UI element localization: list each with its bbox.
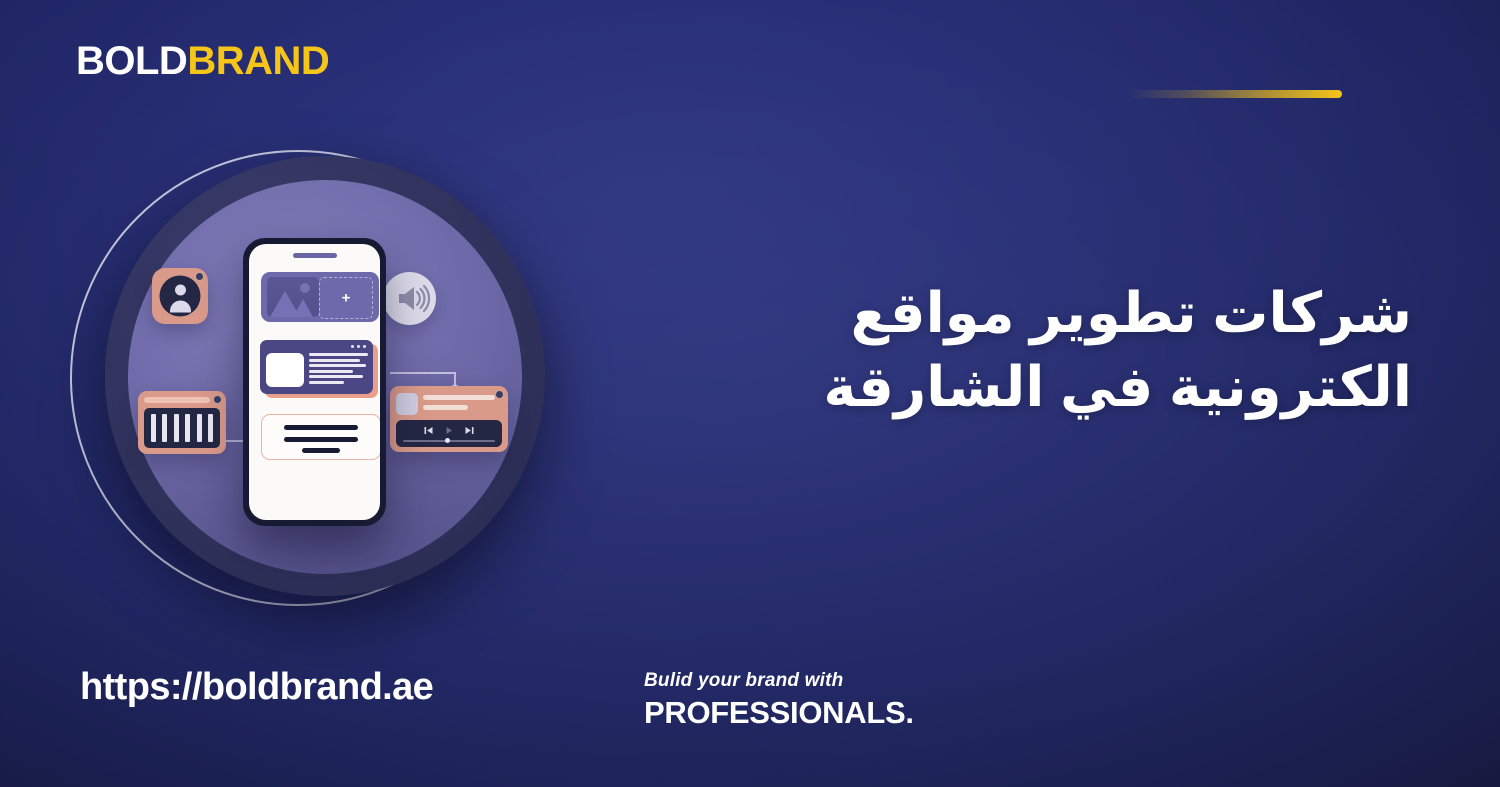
avatar	[160, 276, 201, 317]
mountain-icon-small	[293, 299, 313, 317]
play-icon[interactable]	[445, 426, 454, 435]
browser-card-text-lines	[309, 353, 368, 384]
phone-screen: +	[249, 244, 380, 520]
media-text-lines	[423, 395, 495, 410]
previous-icon[interactable]	[425, 426, 434, 435]
image-picker-block[interactable]: +	[261, 272, 379, 322]
logo-bold-text: BOLD	[76, 39, 187, 83]
close-icon[interactable]	[495, 390, 504, 399]
barcode-card[interactable]	[138, 391, 226, 454]
phone-speaker-notch	[293, 253, 337, 258]
brand-logo[interactable]: BOLDBRAND	[76, 41, 329, 81]
plus-icon: +	[342, 291, 351, 306]
web-development-illustration: +	[60, 128, 560, 628]
sun-icon	[300, 283, 310, 293]
person-icon-body	[170, 301, 191, 313]
barcode-card-titlebar	[144, 397, 210, 403]
avatar-card[interactable]	[152, 268, 208, 324]
next-icon[interactable]	[465, 426, 474, 435]
website-url[interactable]: https://boldbrand.ae	[80, 666, 433, 709]
text-line	[284, 425, 358, 430]
text-block-card[interactable]	[261, 414, 380, 460]
tagline-line-2: PROFESSIONALS.	[644, 695, 914, 731]
speaker-icon	[383, 272, 436, 325]
text-line	[302, 448, 340, 453]
logo-brand-text: BRAND	[187, 39, 329, 83]
media-progress-slider[interactable]	[403, 440, 495, 442]
barcode-icon	[144, 408, 220, 448]
media-player-bar	[396, 420, 502, 447]
speaker-icon-card[interactable]	[383, 272, 436, 325]
tagline: Bulid your brand with PROFESSIONALS.	[644, 670, 914, 730]
tagline-line-1: Bulid your brand with	[644, 670, 914, 692]
close-icon[interactable]	[213, 395, 222, 404]
phone-mockup: +	[243, 238, 386, 526]
window-dots-icon	[351, 345, 366, 348]
person-icon	[175, 285, 186, 296]
media-thumbnail	[396, 393, 418, 415]
image-thumbnail-icon	[267, 277, 319, 317]
media-player-card[interactable]	[390, 386, 508, 452]
add-image-dropzone[interactable]: +	[319, 277, 373, 319]
gold-accent-bar	[1127, 90, 1342, 98]
text-line	[284, 437, 358, 442]
browser-card-thumbnail	[266, 353, 304, 387]
close-icon[interactable]	[195, 272, 204, 281]
media-progress-knob[interactable]	[445, 438, 450, 443]
page-title: شركات تطوير مواقع الكترونية في الشارقة	[812, 276, 1412, 424]
banner-canvas: BOLDBRAND شركات تطوير مواقع الكترونية في…	[0, 0, 1500, 787]
browser-card[interactable]	[260, 340, 373, 394]
media-controls[interactable]	[425, 426, 474, 435]
